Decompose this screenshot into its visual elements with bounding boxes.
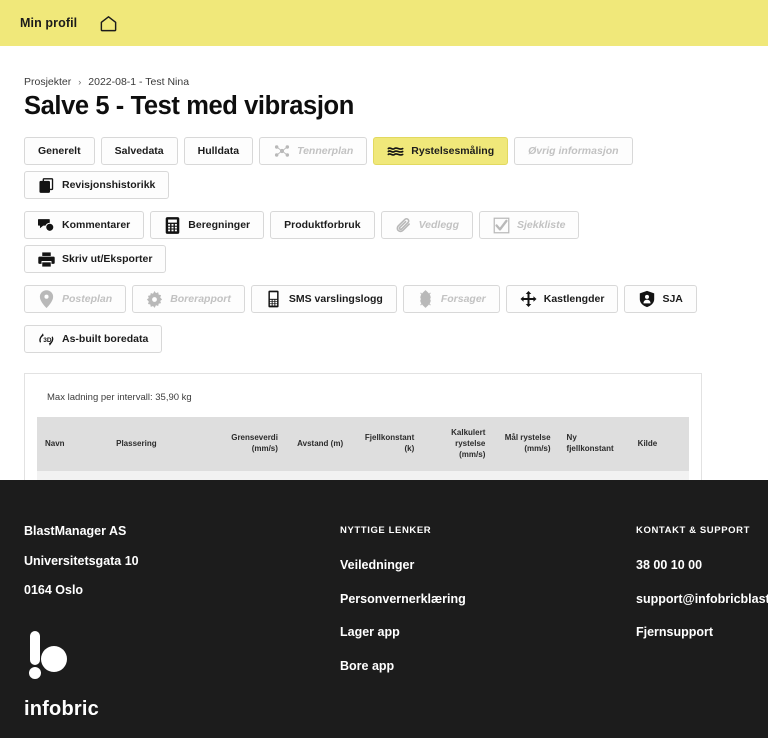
footer-link-personvernerklaering[interactable]: Personvernerklæring	[340, 593, 636, 606]
col-kilde: Kilde	[630, 417, 689, 471]
printer-icon	[38, 251, 55, 268]
footer-contact-column: KONTAKT & SUPPORT 38 00 10 00 support@in…	[636, 525, 768, 738]
tab-label: Tennerplan	[297, 146, 353, 157]
tab-beregninger[interactable]: Beregninger	[150, 211, 264, 239]
col-ny-fjellkonstant: Ny fjellkonstant	[559, 417, 630, 471]
tab-label: Rystelsesmåling	[411, 146, 494, 157]
tab-label: SJA	[662, 294, 682, 305]
tab-hulldata[interactable]: Hulldata	[184, 137, 253, 165]
tab-posteplan: Posteplan	[24, 285, 126, 313]
col-avstand: Avstand (m)	[286, 417, 351, 471]
max-charge-note: Max ladning per intervall: 35,90 kg	[37, 388, 689, 417]
tab-label: Kommentarer	[62, 220, 130, 231]
tab-rystelsesmaling[interactable]: Rystelsesmåling	[373, 137, 508, 165]
infobric-logo: infobric	[24, 629, 340, 721]
tab-tennerplan: Tennerplan	[259, 137, 367, 165]
my-profile-link[interactable]: Min profil	[20, 16, 77, 30]
map-pin-icon	[38, 291, 55, 308]
forsager-icon	[417, 291, 434, 308]
tab-label: Kastlengder	[544, 294, 605, 305]
tab-ovrig-informasjon: Øvrig informasjon	[514, 137, 632, 165]
tab-label: SMS varslingslogg	[289, 294, 383, 305]
tab-as-built-boredata[interactable]: 3D As-built boredata	[24, 325, 162, 353]
contact-phone[interactable]: 38 00 10 00	[636, 559, 768, 572]
tab-label: Beregninger	[188, 220, 250, 231]
col-mal-rystelse: Mål rystelse (mm/s)	[493, 417, 558, 471]
footer-company-column: BlastManager AS Universitetsgata 10 0164…	[24, 525, 340, 738]
links-heading: NYTTIGE LENKER	[340, 525, 636, 536]
tab-label: Produktforbruk	[284, 220, 360, 231]
paperclip-icon	[395, 217, 412, 234]
tab-bar: Generelt Salvedata Hulldata Tennerplan	[24, 137, 724, 353]
contact-email[interactable]: support@infobricblastma	[636, 593, 768, 606]
company-city: 0164 Oslo	[24, 584, 340, 597]
company-name: BlastManager AS	[24, 525, 340, 538]
tab-label: Hulldata	[198, 146, 239, 157]
checkbox-check-icon	[493, 217, 510, 234]
col-plassering: Plassering	[108, 417, 221, 471]
company-street: Universitetsgata 10	[24, 555, 340, 568]
infobric-mark-icon	[24, 629, 80, 685]
tab-label: As-built boredata	[62, 334, 148, 345]
col-fjellkonstant: Fjellkonstant (k)	[351, 417, 422, 471]
tab-vedlegg: Vedlegg	[381, 211, 473, 239]
col-grenseverdi: Grenseverdi (mm/s)	[221, 417, 286, 471]
home-icon[interactable]	[99, 14, 118, 33]
tab-label: Sjekkliste	[517, 220, 565, 231]
tab-sja[interactable]: SJA	[624, 285, 696, 313]
page-title: Salve 5 - Test med vibrasjon	[24, 92, 744, 121]
tab-label: Generelt	[38, 146, 81, 157]
top-bar: Min profil	[0, 0, 768, 46]
tab-label: Salvedata	[115, 146, 164, 157]
tab-kastlengder[interactable]: Kastlengder	[506, 285, 619, 313]
table-header: Navn Plassering Grenseverdi (mm/s) Avsta…	[37, 417, 689, 471]
tab-borerapport: Borerapport	[132, 285, 245, 313]
gear-icon	[146, 291, 163, 308]
tab-forsager: Forsager	[403, 285, 500, 313]
breadcrumb-root[interactable]: Prosjekter	[24, 76, 71, 88]
breadcrumb-separator-icon: ›	[78, 77, 81, 87]
tab-kommentarer[interactable]: Kommentarer	[24, 211, 144, 239]
shield-person-icon	[638, 291, 655, 308]
table-header-row: Navn Plassering Grenseverdi (mm/s) Avsta…	[37, 417, 689, 471]
tab-generelt[interactable]: Generelt	[24, 137, 95, 165]
waves-icon	[387, 143, 404, 160]
tab-label: Øvrig informasjon	[528, 146, 618, 157]
copy-documents-icon	[38, 177, 55, 194]
col-kalkulert-rystelse: Kalkulert rystelse (mm/s)	[422, 417, 493, 471]
footer-link-bore-app[interactable]: Bore app	[340, 660, 636, 673]
four-arrows-icon	[520, 291, 537, 308]
infobric-wordmark: infobric	[24, 698, 340, 721]
speech-bubbles-icon	[38, 217, 55, 234]
footer-link-lager-app[interactable]: Lager app	[340, 626, 636, 639]
breadcrumb: Prosjekter › 2022-08-1 - Test Nina	[24, 76, 744, 88]
site-footer: BlastManager AS Universitetsgata 10 0164…	[0, 480, 768, 738]
tab-produktforbruk[interactable]: Produktforbruk	[270, 211, 374, 239]
contact-remote-support-link[interactable]: Fjernsupport	[636, 626, 768, 639]
tab-label: Borerapport	[170, 294, 231, 305]
mobile-phone-icon	[265, 291, 282, 308]
tab-skriv-ut-eksporter[interactable]: Skriv ut/Eksporter	[24, 245, 166, 273]
tab-label: Revisjonshistorikk	[62, 180, 155, 191]
tab-label: Posteplan	[62, 294, 112, 305]
three-d-rotate-icon: 3D	[38, 331, 55, 348]
tab-sms-varslingslogg[interactable]: SMS varslingslogg	[251, 285, 397, 313]
tab-sjekkliste: Sjekkliste	[479, 211, 579, 239]
footer-link-veiledninger[interactable]: Veiledninger	[340, 559, 636, 572]
svg-text:3D: 3D	[43, 337, 52, 344]
col-navn: Navn	[37, 417, 108, 471]
tab-label: Skriv ut/Eksporter	[62, 254, 152, 265]
contact-heading: KONTAKT & SUPPORT	[636, 525, 768, 536]
footer-links-column: NYTTIGE LENKER Veiledninger Personverner…	[340, 525, 636, 738]
tab-label: Forsager	[441, 294, 486, 305]
tab-revisjonshistorikk[interactable]: Revisjonshistorikk	[24, 171, 169, 199]
calculator-icon	[164, 217, 181, 234]
network-nodes-icon	[273, 143, 290, 160]
breadcrumb-current[interactable]: 2022-08-1 - Test Nina	[88, 76, 189, 88]
tab-salvedata[interactable]: Salvedata	[101, 137, 178, 165]
tab-label: Vedlegg	[419, 220, 459, 231]
